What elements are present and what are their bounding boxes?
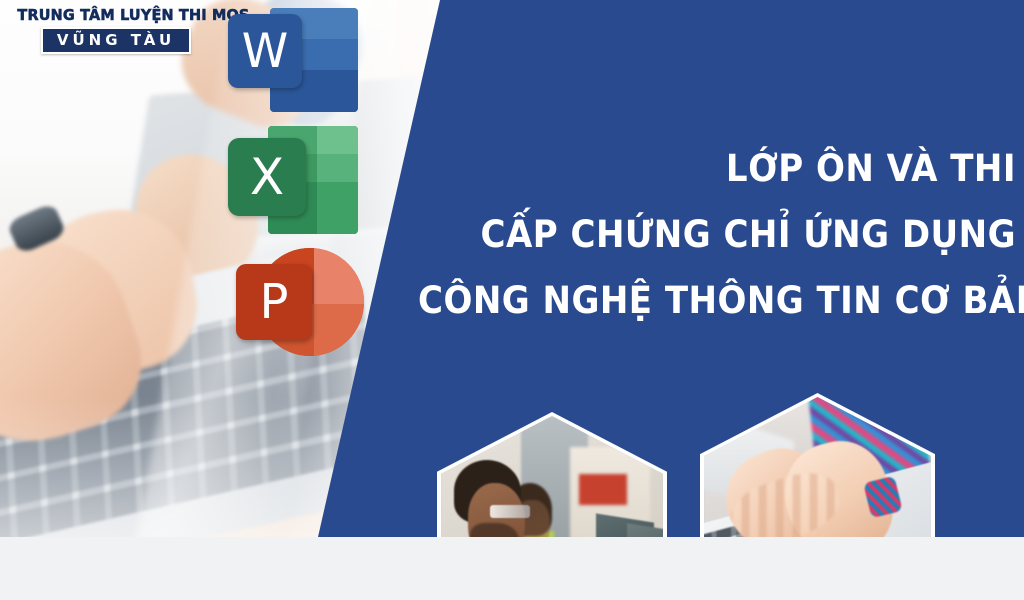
headline-block: LỚP ÔN VÀ THI CẤP CHỨNG CHỈ ỨNG DỤNG CÔN… <box>366 150 1016 319</box>
word-letter-tile: W <box>228 14 302 88</box>
excel-letter-tile: X <box>228 138 306 216</box>
office-app-icon-group: W X <box>228 8 368 372</box>
excel-letter: X <box>250 152 284 202</box>
headline-line-3: CÔNG NGHỆ THÔNG TIN CƠ BẢN <box>418 282 1016 319</box>
microsoft-word-icon: W <box>228 8 368 112</box>
brand-badge: VŨNG TÀU <box>41 27 191 54</box>
word-letter: W <box>242 28 288 75</box>
powerpoint-letter-tile: P <box>236 264 312 340</box>
banner-stage: TRUNG TÂM LUYỆN THI MOS VŨNG TÀU W <box>0 0 1024 600</box>
brand-name-line2: VŨNG TÀU <box>57 31 175 49</box>
powerpoint-letter: P <box>260 278 289 326</box>
brand-name-line1: TRUNG TÂM LUYỆN THI MOS <box>17 6 214 24</box>
brand-logo: TRUNG TÂM LUYỆN THI MOS VŨNG TÀU <box>10 6 222 54</box>
headline-line-2: CẤP CHỨNG CHỈ ỨNG DỤNG <box>418 216 1016 253</box>
microsoft-excel-icon: X <box>228 126 368 234</box>
bottom-strip <box>0 537 1024 600</box>
microsoft-powerpoint-icon: P <box>228 248 368 358</box>
headline-line-1: LỚP ÔN VÀ THI <box>418 150 1016 187</box>
